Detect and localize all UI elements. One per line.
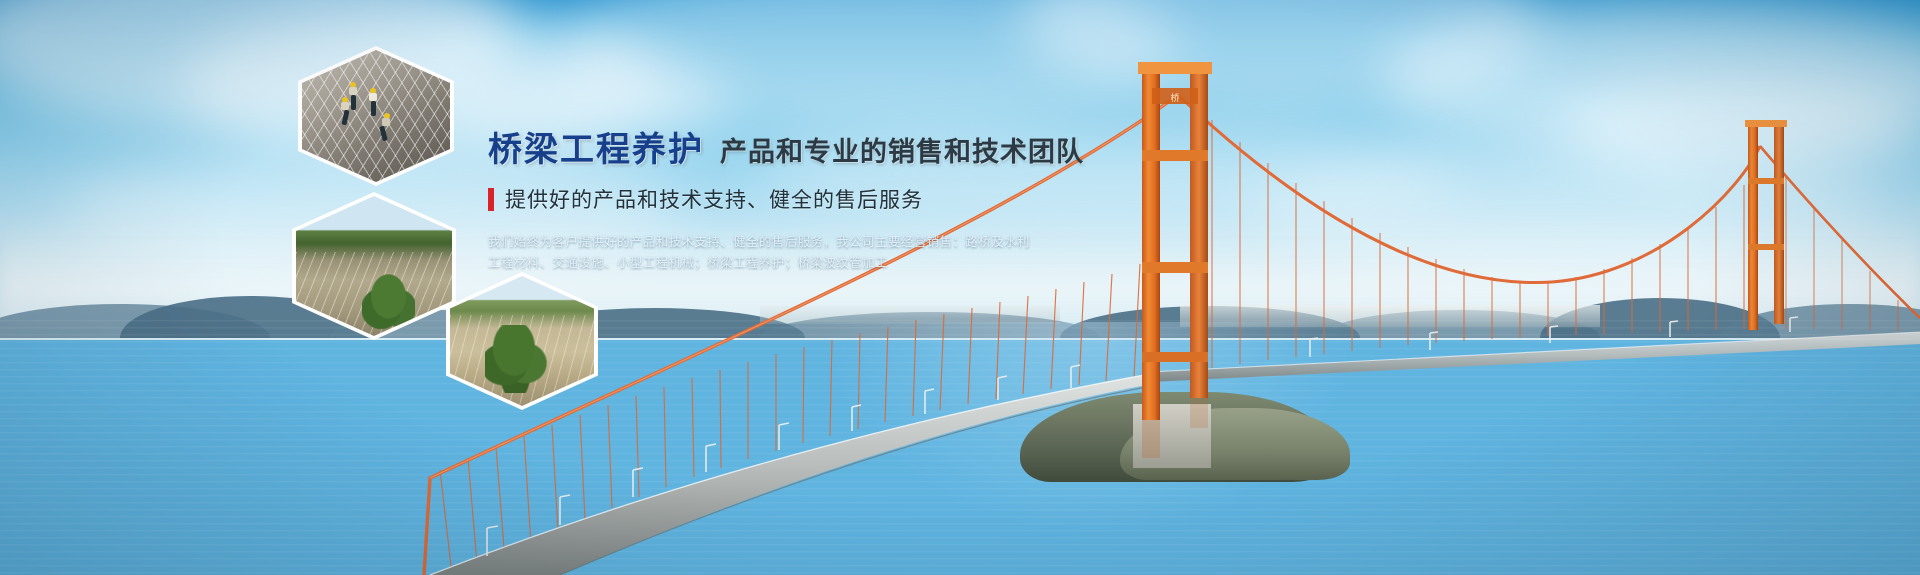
- hero-banner: 桥: [0, 0, 1920, 575]
- banner-copy: 桥梁工程养护 产品和专业的销售和技术团队 提供好的产品和技术支持、健全的售后服务…: [488, 122, 1108, 273]
- slope-vegetation-photo: [450, 276, 594, 406]
- red-accent-bar: [488, 188, 494, 211]
- headline-main: 桥梁工程养护: [488, 122, 704, 171]
- suspender-cables-right: [1786, 176, 1898, 331]
- subheadline-text: 提供好的产品和技术支持、健全的售后服务: [505, 184, 923, 214]
- headline-row: 桥梁工程养护 产品和专业的销售和技术团队: [488, 122, 1108, 168]
- hex-photo-3[interactable]: [446, 272, 598, 410]
- slope-protection-photo: [296, 196, 452, 336]
- bridge-tower-main: 桥: [1138, 62, 1212, 420]
- description-line-1: 我们始终为客户提供好的产品和技术支持、健全的售后服务，我公司主要经营销售：路桥及…: [488, 231, 1108, 252]
- bridge-deck-far: [1150, 332, 1920, 382]
- hex-photo-cluster: [0, 0, 620, 575]
- main-cable-mid: [1178, 95, 1760, 283]
- tree-line: [296, 221, 452, 252]
- hex-photo-2[interactable]: [292, 192, 456, 340]
- description-line-2: 工程材料、交通设施、小型工程机械；桥梁工程养护；桥梁波纹管加工: [488, 252, 1108, 273]
- hex-photo-1[interactable]: [298, 46, 454, 186]
- shrub: [485, 325, 548, 393]
- rockfall-netting-photo: [302, 50, 450, 182]
- wire-mesh-overlay: [302, 50, 450, 182]
- shrub: [362, 274, 415, 330]
- headline-secondary: 产品和专业的销售和技术团队: [720, 130, 1084, 169]
- subheadline-row: 提供好的产品和技术支持、健全的售后服务: [488, 184, 1108, 214]
- svg-text:桥: 桥: [1170, 92, 1179, 104]
- description-paragraph: 我们始终为客户提供好的产品和技术支持、健全的售后服务，我公司主要经营销售：路桥及…: [488, 231, 1108, 273]
